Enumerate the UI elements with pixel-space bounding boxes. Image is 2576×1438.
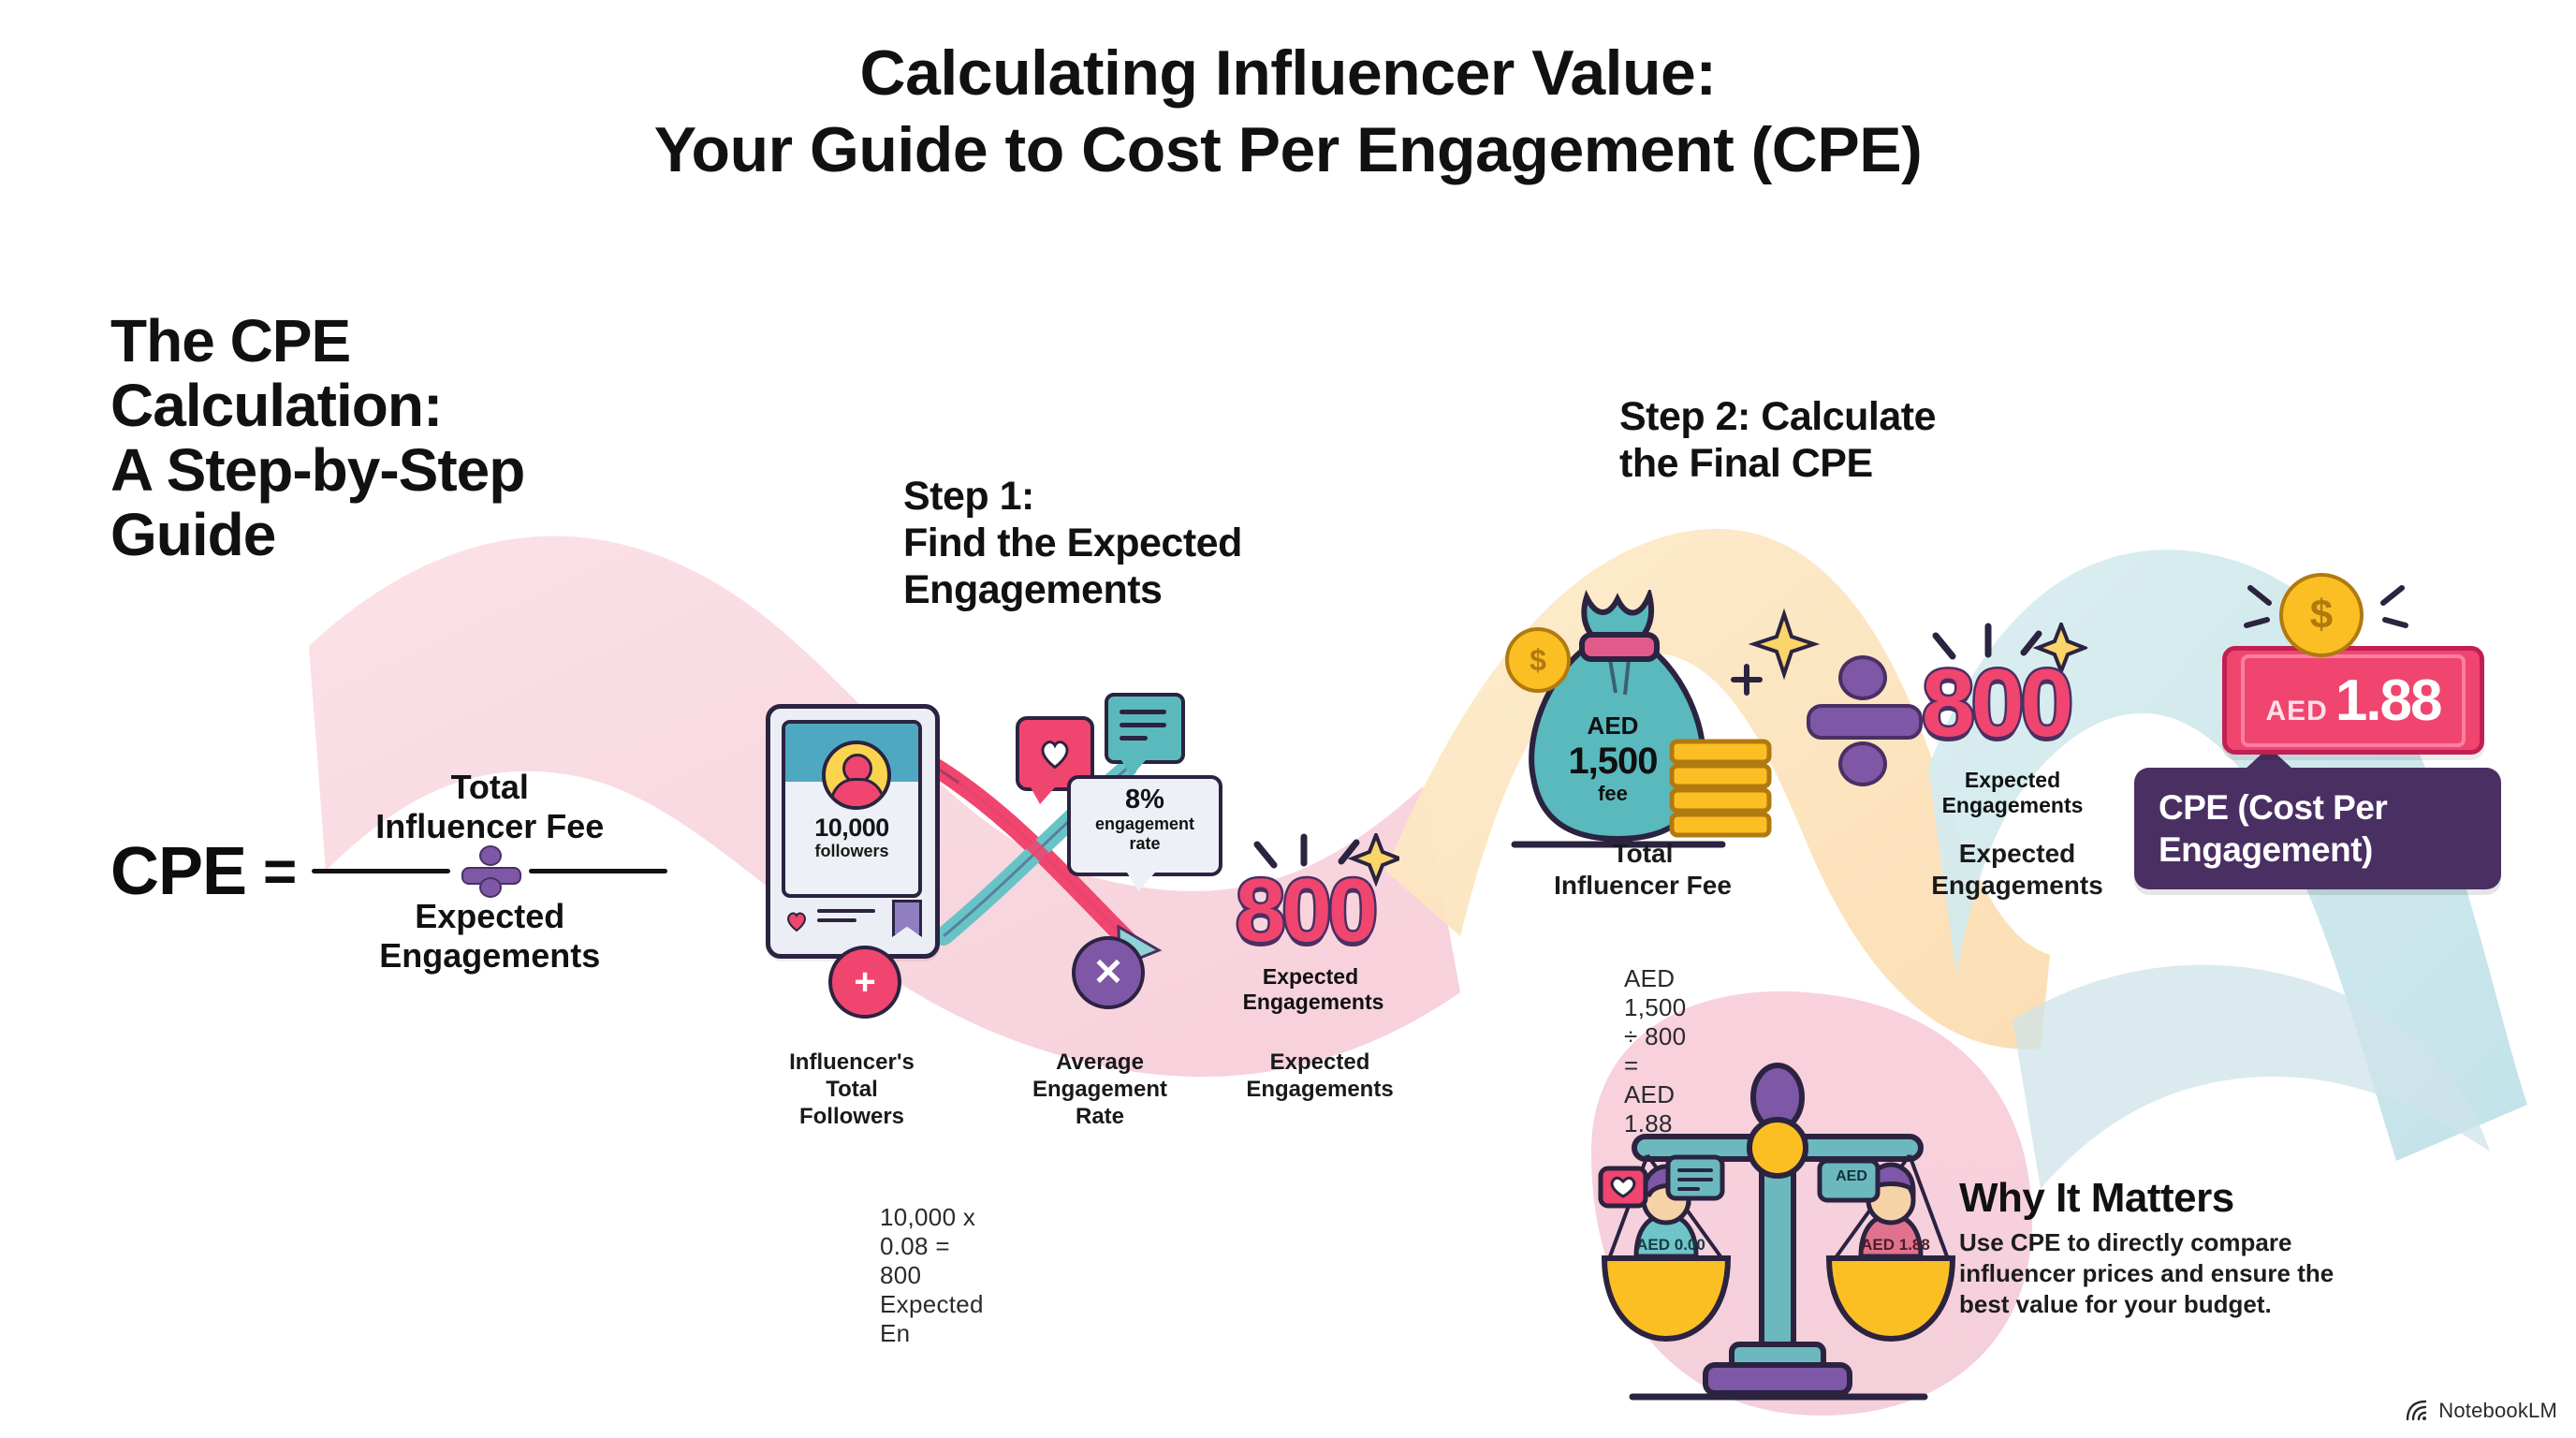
formula-rule-right xyxy=(529,869,667,873)
phone-caption-lines xyxy=(817,909,875,928)
lead-heading-line-4: Guide xyxy=(110,503,822,567)
scales-left-label: AED 0.00 xyxy=(1624,1236,1718,1255)
infographic-canvas: Calculating Influencer Value: Your Guide… xyxy=(0,0,2576,1438)
engagement-rate-value: 8% xyxy=(1071,785,1219,814)
step2-engagements-label-1: Expected xyxy=(1919,768,2106,793)
formula-numerator-line-1: Total xyxy=(451,768,529,807)
phone-screen: 10,000 followers xyxy=(782,720,922,898)
multiply-icon: ✕ xyxy=(1072,936,1145,1009)
formula-equals-sign: = xyxy=(263,839,297,905)
cpe-callout-line-2: Engagement) xyxy=(2159,829,2477,871)
watermark-label: NotebookLM xyxy=(2438,1399,2557,1423)
step2-heading-line-2: the Final CPE xyxy=(1619,440,1936,487)
formula-denominator-line-1: Expected xyxy=(415,897,564,936)
cpe-callout: CPE (Cost Per Engagement) xyxy=(2134,768,2501,889)
step1-caption-followers: Influencer's Total Followers xyxy=(749,1049,955,1130)
user-avatar-icon xyxy=(822,741,891,810)
step1-equation: 10,000 x 0.08 = 800 Expected En xyxy=(880,1203,984,1348)
engagement-rate-label-2: rate xyxy=(1071,834,1219,854)
step1-heading-line-1: Step 1: xyxy=(903,473,1242,520)
why-it-matters-line-2: influencer prices and ensure the xyxy=(1959,1258,2483,1289)
lead-heading-line-1: The CPE xyxy=(110,309,822,374)
dollar-coin-icon: $ xyxy=(1505,627,1571,693)
formula-divider-row xyxy=(312,850,667,893)
step2-expected-engagements-number: 800 xyxy=(1922,655,2070,751)
step1-heading: Step 1: Find the Expected Engagements xyxy=(903,473,1242,613)
balance-scales-icon xyxy=(1591,1058,1966,1404)
why-it-matters-text: Why It Matters Use CPE to directly compa… xyxy=(1959,1175,2483,1320)
title-line-1: Calculating Influencer Value: xyxy=(0,36,2576,110)
followers-count: 10,000 xyxy=(785,814,918,843)
step1-expected-engagements-number: 800 xyxy=(1236,866,1374,956)
phone-profile-card: 10,000 followers xyxy=(766,704,940,959)
step1-heading-line-3: Engagements xyxy=(903,566,1242,613)
formula-numerator-line-2: Influencer Fee xyxy=(375,807,604,846)
engagement-rate-label-1: engagement xyxy=(1071,814,1219,834)
coin-stack-icon xyxy=(1666,721,1778,852)
scales-currency-tag: AED xyxy=(1822,1168,1881,1185)
comment-bubble-icon xyxy=(1105,693,1185,764)
lead-heading: The CPE Calculation: A Step-by-Step Guid… xyxy=(110,309,822,567)
result-value: 1.88 xyxy=(2335,668,2441,734)
step1-caption-rate: Average Engagement Rate xyxy=(988,1049,1212,1130)
step2-caption-total-fee: Total Influencer Fee xyxy=(1516,838,1769,902)
step2-heading-line-1: Step 2: Calculate xyxy=(1619,393,1936,440)
formula-cpe-label: CPE xyxy=(110,833,246,910)
formula-denominator-line-2: Engagements xyxy=(379,936,600,976)
why-it-matters-heading: Why It Matters xyxy=(1959,1175,2483,1222)
step1-expected-engagements-label-2: Engagements xyxy=(1206,990,1421,1015)
cpe-result-ticket: AED 1.88 xyxy=(2222,646,2484,755)
step1-caption-expected: Expected Engagements xyxy=(1207,1049,1432,1103)
lead-heading-line-2: Calculation: xyxy=(110,374,822,438)
step2-engagements-label-2: Engagements xyxy=(1905,793,2120,818)
title-line-2: Your Guide to Cost Per Engagement (CPE) xyxy=(0,110,2576,189)
scales-right-label: AED 1.88 xyxy=(1849,1236,1942,1255)
bag-currency: AED xyxy=(1543,712,1683,741)
formula-rule-left xyxy=(312,869,450,873)
bag-amount: 1,500 xyxy=(1543,741,1683,782)
plus-icon: + xyxy=(828,946,901,1019)
result-currency: AED xyxy=(2265,696,2327,727)
engagement-rate-bubble: 8% engagement rate xyxy=(1067,775,1222,876)
cpe-formula: CPE = Total Influencer Fee Expected Enga… xyxy=(110,768,667,976)
why-it-matters-line-3: best value for your budget. xyxy=(1959,1289,2483,1320)
cpe-callout-line-1: CPE (Cost Per xyxy=(2159,786,2477,829)
step2-heading: Step 2: Calculate the Final CPE xyxy=(1619,393,1936,487)
step1-expected-engagements-label-1: Expected xyxy=(1217,964,1404,990)
dollar-coin-icon: $ xyxy=(2279,573,2364,657)
page-title: Calculating Influencer Value: Your Guide… xyxy=(0,36,2576,189)
divide-icon xyxy=(453,849,526,894)
followers-label: followers xyxy=(785,842,918,861)
notebooklm-logo-icon xyxy=(2405,1399,2429,1423)
bag-amount-group: AED 1,500 fee xyxy=(1543,712,1683,806)
notebooklm-watermark: NotebookLM xyxy=(2405,1399,2557,1423)
bag-fee-label: fee xyxy=(1543,782,1683,806)
why-it-matters-line-1: Use CPE to directly compare xyxy=(1959,1227,2483,1258)
step2-caption-expected: Expected Engagements xyxy=(1891,838,2144,902)
bookmark-icon xyxy=(892,900,922,937)
step1-heading-line-2: Find the Expected xyxy=(903,520,1242,566)
lead-heading-line-3: A Step-by-Step xyxy=(110,438,822,503)
formula-fraction: Total Influencer Fee Expected Engagement… xyxy=(312,768,667,976)
divide-icon xyxy=(1807,655,1919,777)
heart-icon xyxy=(785,911,808,932)
